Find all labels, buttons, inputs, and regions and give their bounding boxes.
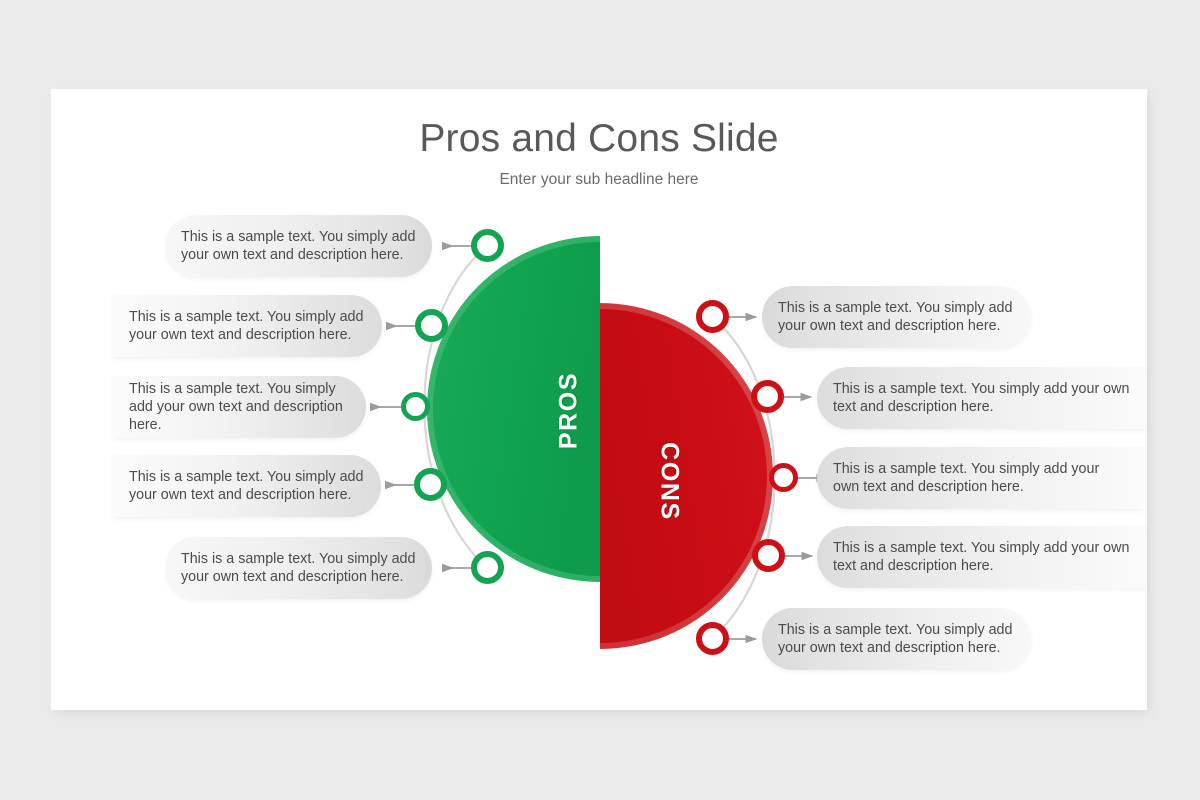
- cons-list-item-1[interactable]: This is a sample text. You simply add yo…: [762, 286, 1031, 348]
- page-subtitle: Enter your sub headline here: [51, 171, 1147, 189]
- cons-item-text-2: This is a sample text. You simply add yo…: [817, 380, 1147, 417]
- pros-label: PROS: [555, 371, 584, 451]
- pros-list-item-2[interactable]: This is a sample text. You simply add yo…: [113, 295, 382, 357]
- slide-canvas: Pros and Cons Slide Enter your sub headl…: [51, 89, 1147, 710]
- pros-item-text-5: This is a sample text. You simply add yo…: [165, 550, 432, 587]
- cons-ring-marker-icon-4[interactable]: [752, 539, 785, 572]
- cons-ring-marker-icon-5[interactable]: [696, 622, 729, 655]
- pros-item-text-3: This is a sample text. You simply add yo…: [113, 380, 366, 435]
- pros-ring-marker-icon-3[interactable]: [401, 392, 430, 421]
- pros-ring-marker-icon-1[interactable]: [471, 229, 504, 262]
- pros-ring-marker-icon-5[interactable]: [471, 551, 504, 584]
- cons-ring-marker-icon-2[interactable]: [751, 380, 784, 413]
- cons-item-text-5: This is a sample text. You simply add yo…: [762, 621, 1031, 658]
- cons-list-item-2[interactable]: This is a sample text. You simply add yo…: [817, 367, 1147, 429]
- cons-list-item-4[interactable]: This is a sample text. You simply add yo…: [817, 526, 1147, 588]
- pros-ring-marker-icon-4[interactable]: [414, 468, 447, 501]
- pros-list-item-1[interactable]: This is a sample text. You simply add yo…: [165, 215, 432, 277]
- screenshot-root: Pros and Cons Slide Enter your sub headl…: [0, 0, 1200, 800]
- pros-list-item-4[interactable]: This is a sample text. You simply add yo…: [113, 455, 381, 517]
- cons-item-text-4: This is a sample text. You simply add yo…: [817, 539, 1147, 576]
- pros-list-item-5[interactable]: This is a sample text. You simply add yo…: [165, 537, 432, 599]
- cons-item-text-3: This is a sample text. You simply add yo…: [817, 460, 1145, 497]
- cons-ring-marker-icon-1[interactable]: [696, 300, 729, 333]
- pros-ring-marker-icon-2[interactable]: [415, 309, 448, 342]
- pros-item-text-4: This is a sample text. You simply add yo…: [113, 468, 381, 505]
- page-title: Pros and Cons Slide: [51, 117, 1147, 161]
- cons-list-item-3[interactable]: This is a sample text. You simply add yo…: [817, 447, 1145, 509]
- cons-list-item-5[interactable]: This is a sample text. You simply add yo…: [762, 608, 1031, 670]
- cons-half: [600, 303, 773, 649]
- pros-list-item-3[interactable]: This is a sample text. You simply add yo…: [113, 376, 366, 438]
- cons-ring-marker-icon-3[interactable]: [769, 463, 798, 492]
- cons-item-text-1: This is a sample text. You simply add yo…: [762, 299, 1031, 336]
- cons-label: CONS: [655, 442, 684, 522]
- pros-item-text-2: This is a sample text. You simply add yo…: [113, 308, 382, 345]
- pros-item-text-1: This is a sample text. You simply add yo…: [165, 228, 432, 265]
